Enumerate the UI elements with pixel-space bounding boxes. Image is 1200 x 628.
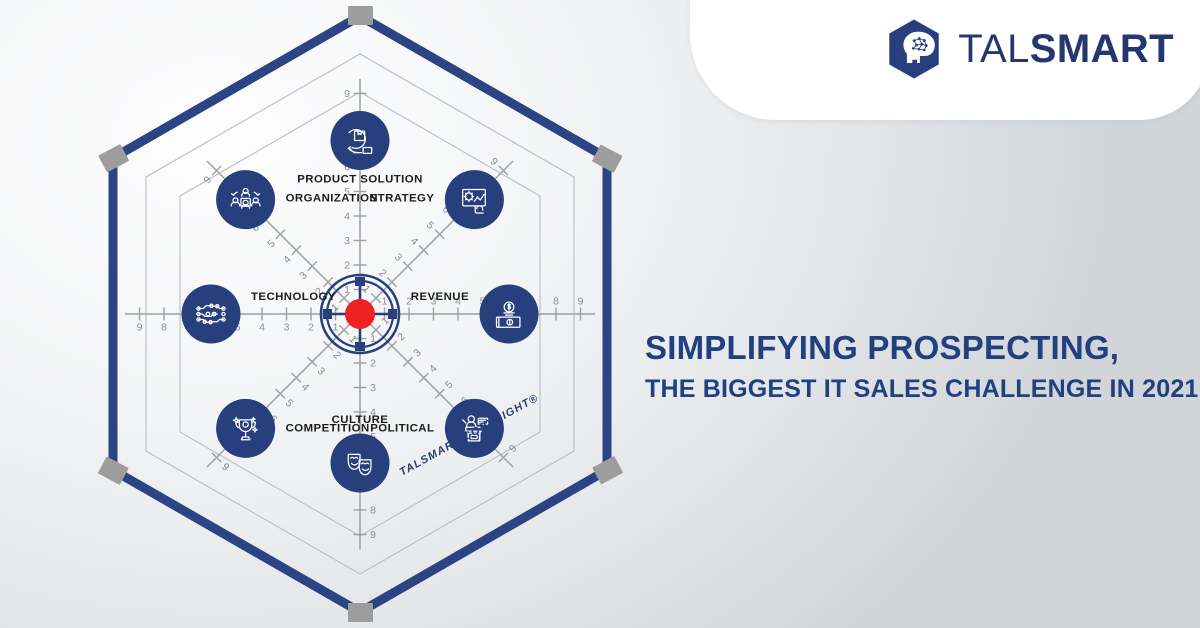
brand-name-bold: SMART	[1030, 27, 1174, 71]
tick-label: 2	[376, 267, 389, 280]
tick-label: 2	[308, 322, 314, 334]
tick-label: 4	[299, 381, 312, 394]
tick-label: 9	[219, 461, 232, 474]
radar-node-product-solution[interactable]: PRODUCT SOLUTION	[297, 111, 423, 186]
brand-wordmark: TALSMART	[958, 29, 1174, 69]
tick-label: 2	[395, 331, 408, 344]
brand-lockup: TALSMART	[883, 18, 1174, 80]
radar-diagram: 1234567891234567891234567891234567891234…	[40, 0, 680, 628]
node-disc[interactable]	[182, 285, 241, 344]
tick-label: 4	[344, 211, 350, 223]
tick-label: 5	[265, 238, 278, 251]
axis-label: ORGANIZATION	[286, 193, 379, 205]
tick-label: 8	[161, 322, 167, 334]
node-disc[interactable]	[480, 285, 539, 344]
tick-label: 3	[315, 365, 328, 378]
tick-label: 5	[443, 379, 456, 392]
tick-label: 4	[259, 322, 265, 334]
tick-label: 2	[344, 260, 350, 272]
tick-label: 4	[281, 253, 294, 266]
axis-label: TECHNOLOGY	[251, 291, 336, 303]
tick-label: 1	[382, 296, 388, 308]
headline-line-2: THE BIGGEST IT SALES CHALLENGE IN 2021	[645, 374, 1190, 404]
node-disc[interactable]	[445, 170, 504, 229]
headline: SIMPLIFYING PROSPECTING, THE BIGGEST IT …	[645, 330, 1190, 404]
tick-label: 4	[408, 235, 421, 248]
axis-label: STRATEGY	[370, 193, 435, 205]
poster-canvas: TALSMART SIMPLIFYING PROSPECTING, THE BI…	[0, 0, 1200, 628]
tick-label: 2	[370, 358, 376, 370]
tick-label: 5	[283, 397, 296, 410]
axis-label: PRODUCT SOLUTION	[297, 174, 423, 186]
tick-label: 9	[137, 322, 143, 334]
tick-label: 9	[344, 88, 350, 100]
axis-label: REVENUE	[411, 291, 469, 303]
tick-label: 5	[424, 219, 437, 232]
tick-label: 8	[553, 296, 559, 308]
tick-label: 3	[344, 235, 350, 247]
tick-label: 3	[411, 347, 424, 360]
tick-label: 2	[331, 349, 344, 362]
radar-svg: 1234567891234567891234567891234567891234…	[40, 0, 680, 628]
brand-name-light: TAL	[958, 27, 1030, 71]
headline-line-1: SIMPLIFYING PROSPECTING,	[645, 330, 1190, 367]
axis-label: COMPETITION	[286, 422, 370, 434]
tick-label: 3	[297, 269, 310, 282]
tick-label: 9	[201, 174, 214, 187]
tick-label: 3	[370, 382, 376, 394]
tick-label: 3	[392, 251, 405, 264]
tick-label: 9	[507, 442, 520, 455]
tick-label: 8	[370, 505, 376, 517]
tick-label: 4	[427, 363, 440, 376]
tick-label: 3	[284, 322, 290, 334]
brand-panel: TALSMART	[690, 0, 1200, 120]
node-disc[interactable]	[216, 399, 275, 458]
tick-label: 9	[578, 296, 584, 308]
head-brain-hexagon-icon	[883, 18, 945, 80]
tick-label: 9	[370, 529, 376, 541]
target-bullseye-icon	[321, 275, 399, 353]
